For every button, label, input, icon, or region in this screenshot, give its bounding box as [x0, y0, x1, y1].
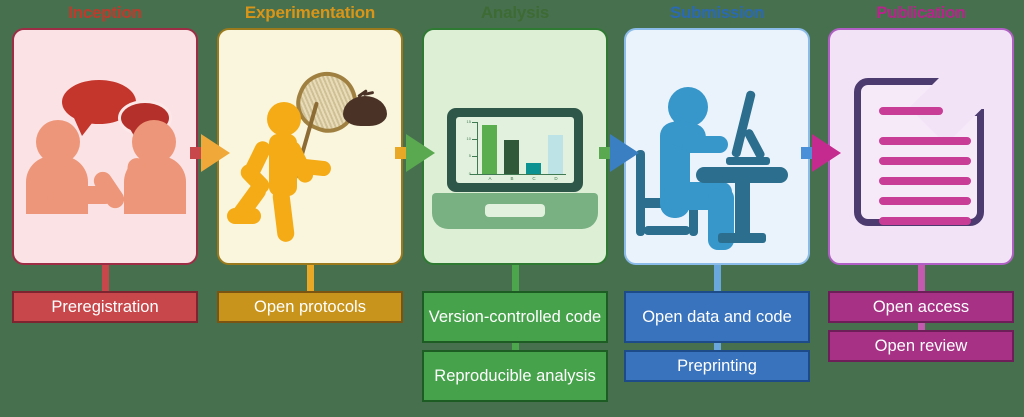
- chip-preprinting[interactable]: Preprinting: [624, 350, 810, 382]
- bar-D: [546, 122, 566, 174]
- connector-stem: [512, 343, 519, 350]
- stage-title-submission: Submission: [624, 0, 810, 28]
- diagram-canvas: Inception Preregistration Experim: [0, 0, 1024, 417]
- chip-label: Reproducible analysis: [434, 367, 595, 386]
- chip-open-protocols[interactable]: Open protocols: [217, 291, 403, 323]
- chip-label: Open protocols: [254, 298, 366, 317]
- connector-stem: [714, 265, 721, 291]
- chip-label: Open data and code: [642, 308, 792, 327]
- stage-submission: Submission: [624, 0, 810, 417]
- two-people-talking-with-speech-bubbles-icon: [14, 30, 196, 263]
- person-running-with-butterfly-net-icon: [219, 30, 401, 263]
- bar-C: [524, 122, 544, 174]
- chip-preregistration[interactable]: Preregistration: [12, 291, 198, 323]
- chip-open-data-and-code[interactable]: Open data and code: [624, 291, 810, 343]
- stage-title-experimentation: Experimentation: [217, 0, 403, 28]
- chip-label: Version-controlled code: [429, 308, 601, 327]
- flow-arrow-analysis-to-submission: [599, 134, 639, 172]
- flow-arrow-submission-to-publication: [801, 134, 841, 172]
- document-with-folded-corner-icon: [830, 30, 1012, 263]
- bar-A: [480, 122, 500, 174]
- connector-stem: [512, 265, 519, 291]
- laptop-with-bar-chart-icon: 15 10 5 0 A B C D: [424, 30, 606, 263]
- person-at-desk-with-computer-icon: [626, 30, 808, 263]
- chip-label: Open access: [873, 298, 969, 317]
- arrow-head-icon: [201, 134, 230, 172]
- chip-open-review[interactable]: Open review: [828, 330, 1014, 362]
- stage-card-submission: [624, 28, 810, 265]
- stage-card-analysis: 15 10 5 0 A B C D: [422, 28, 608, 265]
- chip-label: Preprinting: [677, 357, 757, 376]
- chip-version-controlled-code[interactable]: Version-controlled code: [422, 291, 608, 343]
- stage-experimentation: Experimentation Open protocols: [217, 0, 403, 417]
- x-tick-label: A: [480, 176, 500, 181]
- stage-analysis: Analysis 15 10 5: [422, 0, 608, 417]
- stage-inception: Inception Preregistration: [12, 0, 198, 417]
- chip-open-access[interactable]: Open access: [828, 291, 1014, 323]
- x-tick-label: B: [502, 176, 522, 181]
- chip-label: Preregistration: [51, 298, 158, 317]
- chip-reproducible-analysis[interactable]: Reproducible analysis: [422, 350, 608, 402]
- connector-stem: [918, 265, 925, 291]
- y-tick-label: 0: [458, 172, 471, 176]
- chip-label: Open review: [875, 337, 968, 356]
- stage-card-publication: [828, 28, 1014, 265]
- flow-arrow-inception-to-experimentation: [190, 134, 230, 172]
- stage-title-inception: Inception: [12, 0, 198, 28]
- connector-stem: [307, 265, 314, 291]
- connector-stem: [714, 343, 721, 350]
- connector-stem: [102, 265, 109, 291]
- stage-card-experimentation: [217, 28, 403, 265]
- bar-chart: 15 10 5 0 A B C D: [456, 117, 574, 183]
- stage-publication: Publication Open access Open review: [828, 0, 1014, 417]
- arrow-head-icon: [406, 134, 435, 172]
- flow-arrow-experimentation-to-analysis: [395, 134, 435, 172]
- bar-B: [502, 122, 522, 174]
- stage-title-analysis: Analysis: [422, 0, 608, 28]
- arrow-head-icon: [812, 134, 841, 172]
- y-tick-label: 5: [458, 154, 471, 158]
- stage-title-publication: Publication: [828, 0, 1014, 28]
- x-tick-label: C: [524, 176, 544, 181]
- y-tick-label: 10: [458, 137, 471, 141]
- stage-card-inception: [12, 28, 198, 265]
- x-tick-label: D: [546, 176, 566, 181]
- connector-stem: [918, 323, 925, 330]
- arrow-head-icon: [610, 134, 639, 172]
- y-tick-label: 15: [458, 120, 471, 124]
